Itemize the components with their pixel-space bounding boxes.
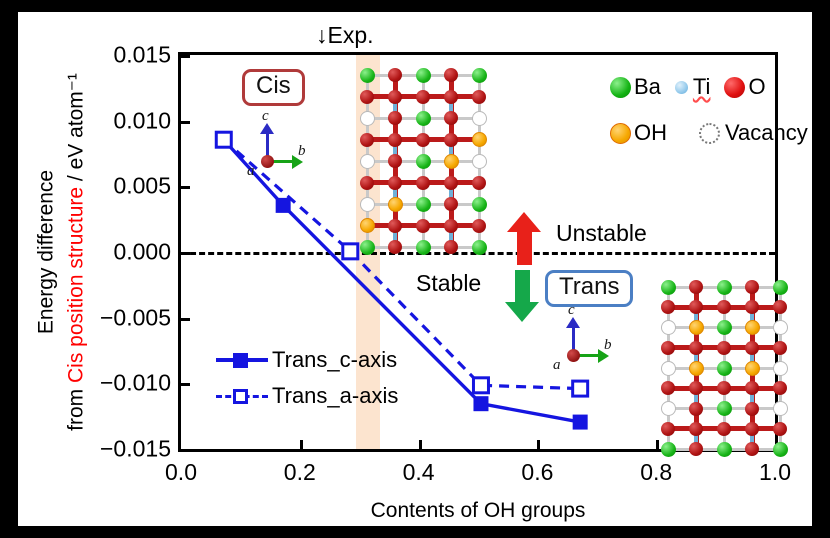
o-atom xyxy=(717,422,731,436)
o-atom xyxy=(472,176,486,190)
triad-b-label: b xyxy=(298,143,306,160)
legend-label-o: O xyxy=(748,74,765,100)
o-atom xyxy=(689,381,703,395)
cis-crystal-structure-image xyxy=(362,70,484,252)
atom-legend: Ba Ti O OH Vacancy xyxy=(610,74,800,166)
ba-atom xyxy=(717,361,732,376)
o-atom xyxy=(689,402,703,416)
o-atom xyxy=(388,219,402,233)
y-tick xyxy=(181,318,190,321)
legend-item-oh: OH xyxy=(610,120,667,146)
series-legend-item-0: Trans_c-axis xyxy=(216,342,398,378)
y-axis-title-line1: Energy difference xyxy=(36,170,57,334)
y-tick-label: 0.005 xyxy=(113,173,171,200)
x-tick-label: 0.0 xyxy=(165,459,197,486)
y-axis-title-prefix: from xyxy=(65,383,88,431)
legend-item-ti: Ti xyxy=(675,74,711,100)
data-point-1-3 xyxy=(573,381,588,396)
data-point-1-1 xyxy=(343,244,358,259)
ba-atom xyxy=(717,401,732,416)
o-atom xyxy=(689,422,703,436)
series-legend-label-0: Trans_c-axis xyxy=(272,347,397,373)
triad-b-label: b xyxy=(604,337,612,354)
stable-label: Stable xyxy=(416,270,481,297)
x-tick xyxy=(300,440,303,449)
legend-label-vacancy: Vacancy xyxy=(725,120,808,146)
o-atom xyxy=(717,300,731,314)
x-tick-label: 0.4 xyxy=(403,459,435,486)
o-atom xyxy=(773,422,787,436)
oh-atom xyxy=(388,197,403,212)
series-key-solid-filled-square-icon xyxy=(216,350,268,370)
ba-atom-icon xyxy=(610,77,631,98)
data-point-1-2 xyxy=(473,378,488,393)
x-tick-label: 0.8 xyxy=(640,459,672,486)
o-atom xyxy=(444,197,458,211)
ba-atom xyxy=(416,197,431,212)
vac-atom xyxy=(360,154,375,169)
oh-atom xyxy=(745,361,760,376)
o-atom xyxy=(773,341,787,355)
o-atom xyxy=(717,341,731,355)
y-tick xyxy=(181,55,190,58)
o-atom xyxy=(689,442,703,456)
vac-atom xyxy=(661,361,676,376)
legend-label-ba: Ba xyxy=(634,74,661,100)
data-point-0-1 xyxy=(276,198,291,213)
legend-item-o: O xyxy=(724,74,765,100)
down-arrow-icon xyxy=(505,270,539,322)
ba-atom xyxy=(416,68,431,83)
vac-atom xyxy=(773,361,788,376)
o-atom xyxy=(717,381,731,395)
y-tick xyxy=(181,252,190,255)
o-atom xyxy=(472,90,486,104)
ba-atom xyxy=(661,442,676,457)
o-atom xyxy=(745,300,759,314)
oh-atom xyxy=(745,320,760,335)
legend-item-ba: Ba xyxy=(610,74,661,100)
o-atom xyxy=(388,90,402,104)
trans-structure-tag: Trans xyxy=(545,270,633,307)
ba-atom xyxy=(416,240,431,255)
x-tick xyxy=(419,440,422,449)
x-tick-label: 1.0 xyxy=(759,459,791,486)
triad-a-label: a xyxy=(247,163,255,180)
triad-c-label: c xyxy=(262,108,269,125)
figure-root: ↓Exp. Energy difference from Cis positio… xyxy=(0,0,830,538)
o-atom xyxy=(416,219,430,233)
triad-a-label: a xyxy=(553,357,561,374)
x-axis-title: Contents of OH groups xyxy=(178,499,778,523)
o-atom xyxy=(444,240,458,254)
figure-canvas: ↓Exp. Energy difference from Cis positio… xyxy=(18,12,812,526)
vac-atom xyxy=(661,401,676,416)
y-tick-label: 0.000 xyxy=(113,239,171,266)
ba-atom xyxy=(416,154,431,169)
oh-atom xyxy=(360,218,375,233)
o-atom xyxy=(444,68,458,82)
ba-atom xyxy=(717,320,732,335)
o-atom xyxy=(773,381,787,395)
ba-atom xyxy=(472,240,487,255)
o-atom xyxy=(745,341,759,355)
o-atom xyxy=(773,300,787,314)
legend-label-ti: Ti xyxy=(693,74,711,100)
axis-triad-cis-icon: c b a xyxy=(240,112,306,174)
y-axis-title: Energy difference from Cis position stru… xyxy=(32,52,92,452)
o-atom xyxy=(416,133,430,147)
o-atom xyxy=(388,111,402,125)
o-atom xyxy=(444,133,458,147)
y-axis-title-suffix: / eV atom⁻¹ xyxy=(65,73,88,187)
exp-pointer-label: ↓Exp. xyxy=(316,22,374,49)
o-atom xyxy=(745,381,759,395)
ba-atom xyxy=(472,197,487,212)
o-atom xyxy=(388,240,402,254)
y-tick xyxy=(181,449,190,452)
ba-atom xyxy=(773,280,788,295)
trans-crystal-structure-image xyxy=(663,282,785,454)
vac-atom xyxy=(773,401,788,416)
o-atom xyxy=(416,176,430,190)
o-atom xyxy=(444,219,458,233)
x-tick xyxy=(537,440,540,449)
oh-atom xyxy=(472,132,487,147)
o-atom xyxy=(444,111,458,125)
vac-atom xyxy=(661,320,676,335)
y-tick-label: −0.005 xyxy=(100,304,171,331)
x-tick xyxy=(656,440,659,449)
y-tick-label: 0.010 xyxy=(113,107,171,134)
axis-triad-trans-icon: c b a xyxy=(546,306,612,368)
o-atom xyxy=(416,90,430,104)
o-atom xyxy=(360,133,374,147)
ti-atom-icon xyxy=(675,81,688,94)
o-atom xyxy=(661,422,675,436)
x-tick-label: 0.6 xyxy=(521,459,553,486)
o-atom xyxy=(360,176,374,190)
y-axis-title-red: Cis position structure xyxy=(65,187,88,383)
o-atom xyxy=(661,300,675,314)
data-point-0-2 xyxy=(473,396,488,411)
o-atom xyxy=(388,68,402,82)
o-atom xyxy=(745,422,759,436)
y-tick xyxy=(181,186,190,189)
o-atom xyxy=(472,219,486,233)
triad-c-label: c xyxy=(568,302,575,319)
o-atom xyxy=(745,442,759,456)
o-atom xyxy=(444,176,458,190)
oh-atom xyxy=(689,320,704,335)
ba-atom xyxy=(360,68,375,83)
ba-atom xyxy=(360,240,375,255)
legend-item-vacancy: Vacancy xyxy=(699,120,808,146)
ba-atom xyxy=(717,442,732,457)
legend-label-oh: OH xyxy=(634,120,667,146)
ba-atom xyxy=(773,442,788,457)
atom-legend-row-2: OH Vacancy xyxy=(610,120,800,146)
ba-atom xyxy=(661,280,676,295)
up-arrow-icon xyxy=(507,212,541,264)
y-tick xyxy=(181,121,190,124)
data-point-1-0 xyxy=(216,132,231,147)
y-tick-label: −0.015 xyxy=(100,436,171,463)
o-atom xyxy=(689,280,703,294)
o-atom-icon xyxy=(724,77,745,98)
ba-atom xyxy=(472,68,487,83)
o-atom xyxy=(661,341,675,355)
x-tick-label: 0.2 xyxy=(284,459,316,486)
o-atom xyxy=(745,402,759,416)
o-atom xyxy=(745,280,759,294)
series-legend-item-1: Trans_a-axis xyxy=(216,378,398,414)
cis-structure-tag: Cis xyxy=(242,69,305,106)
y-tick-label: 0.015 xyxy=(113,42,171,69)
oh-atom-icon xyxy=(610,123,631,144)
y-tick-label: −0.010 xyxy=(100,370,171,397)
y-tick xyxy=(181,383,190,386)
ba-atom xyxy=(717,280,732,295)
series-key-dashed-open-square-icon xyxy=(216,386,268,406)
o-atom xyxy=(388,133,402,147)
series-legend-label-1: Trans_a-axis xyxy=(272,383,398,409)
atom-legend-row-1: Ba Ti O xyxy=(610,74,800,100)
vac-atom xyxy=(472,154,487,169)
data-point-0-3 xyxy=(573,415,588,430)
vac-atom xyxy=(360,111,375,126)
o-atom xyxy=(689,300,703,314)
series-legend: Trans_c-axis Trans_a-axis xyxy=(216,342,398,414)
y-axis-title-line2: from Cis position structure / eV atom⁻¹ xyxy=(66,73,87,431)
o-atom xyxy=(388,176,402,190)
oh-atom xyxy=(444,154,459,169)
vac-atom xyxy=(773,320,788,335)
o-atom xyxy=(360,90,374,104)
unstable-label: Unstable xyxy=(556,220,647,247)
vac-atom xyxy=(360,197,375,212)
o-atom xyxy=(444,90,458,104)
vac-atom xyxy=(472,111,487,126)
ba-atom xyxy=(416,111,431,126)
o-atom xyxy=(388,154,402,168)
o-atom xyxy=(661,381,675,395)
vacancy-icon xyxy=(699,123,720,144)
oh-atom xyxy=(689,361,704,376)
o-atom xyxy=(689,341,703,355)
